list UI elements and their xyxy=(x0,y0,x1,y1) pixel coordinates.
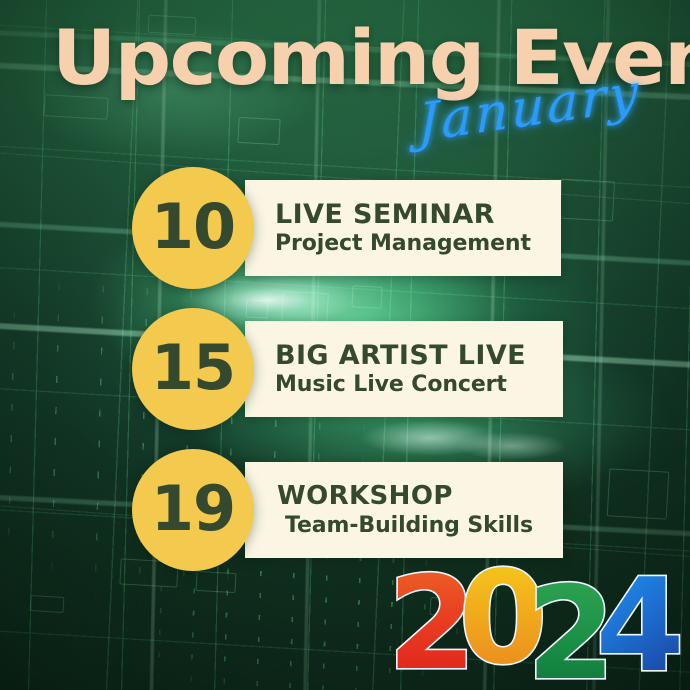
event-day-number: 10 xyxy=(151,196,235,258)
event-title: WORKSHOP xyxy=(245,481,563,512)
event-date-badge[interactable]: 19 xyxy=(132,449,254,571)
event-card[interactable]: LIVE SEMINAR Project Management xyxy=(245,180,561,276)
event-title: LIVE SEMINAR xyxy=(245,199,561,230)
event-day-number: 15 xyxy=(151,337,235,399)
poster-canvas: Upcoming Events January LIVE SEMINAR Pro… xyxy=(0,0,690,690)
event-subtitle: Team-Building Skills xyxy=(245,512,563,539)
event-card[interactable]: WORKSHOP Team-Building Skills xyxy=(245,462,563,558)
event-date-badge[interactable]: 15 xyxy=(132,308,254,430)
event-title: BIG ARTIST LIVE xyxy=(245,340,563,371)
event-row[interactable]: BIG ARTIST LIVE Music Live Concert 15 xyxy=(0,303,690,433)
event-date-badge[interactable]: 10 xyxy=(132,167,254,289)
event-row[interactable]: WORKSHOP Team-Building Skills 19 xyxy=(0,444,690,574)
event-row[interactable]: LIVE SEMINAR Project Management 10 xyxy=(0,162,690,292)
event-subtitle: Music Live Concert xyxy=(245,371,563,398)
event-list: LIVE SEMINAR Project Management 10 BIG A… xyxy=(0,0,690,690)
event-card[interactable]: BIG ARTIST LIVE Music Live Concert xyxy=(245,321,563,417)
event-subtitle: Project Management xyxy=(245,230,561,257)
event-day-number: 19 xyxy=(151,478,235,540)
